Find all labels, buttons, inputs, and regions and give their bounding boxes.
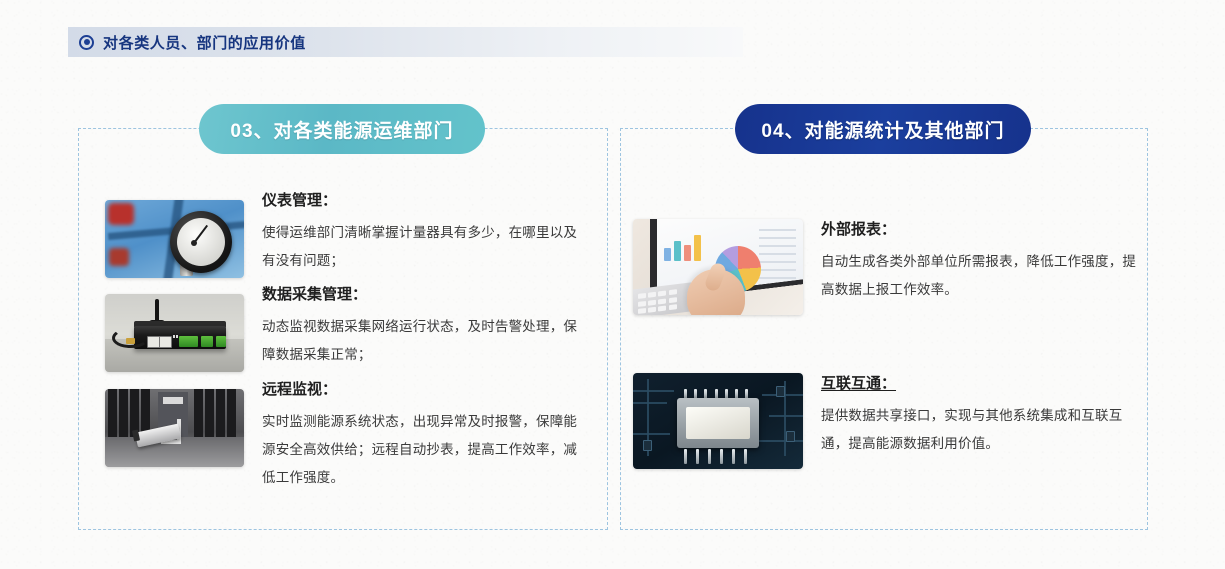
item-desc: 自动生成各类外部单位所需报表，降低工作强度，提高数据上报工作效率。 <box>821 248 1141 304</box>
item-desc: 提供数据共享接口，实现与其他系统集成和互联互通，提高能源数据利用价值。 <box>821 402 1141 458</box>
item-title: 远程监视： <box>262 382 582 399</box>
pressure-gauge-photo <box>105 200 244 278</box>
list-item: 远程监视： 实时监测能源系统状态，出现异常及时报警，保障能源安全高效供给；远程自… <box>105 389 582 492</box>
item-title: 外部报表： <box>821 222 1141 239</box>
panel-04 <box>620 128 1148 530</box>
laptop-charts-photo <box>633 219 803 315</box>
list-item: 互联互通： 提供数据共享接口，实现与其他系统集成和互联互通，提高能源数据利用价值… <box>633 373 1141 469</box>
badge-03: 03、对各类能源运维部门 <box>199 104 485 154</box>
item-desc: 使得运维部门清晰掌握计量器具有多少，在哪里以及有没有问题； <box>262 219 582 275</box>
list-item: 仪表管理： 使得运维部门清晰掌握计量器具有多少，在哪里以及有没有问题； <box>105 200 582 278</box>
target-circle-icon <box>79 35 94 50</box>
item-title: 仪表管理： <box>262 193 582 210</box>
item-desc: 动态监视数据采集网络运行状态，及时告警处理，保障数据采集正常； <box>262 313 582 369</box>
data-acquisition-gateway-photo <box>105 294 244 372</box>
section-header: 对各类人员、部门的应用价值 <box>68 27 743 57</box>
cpu-circuit-board-photo <box>633 373 803 469</box>
surveillance-camera-photo <box>105 389 244 467</box>
badge-04: 04、对能源统计及其他部门 <box>735 104 1031 154</box>
list-item: 外部报表： 自动生成各类外部单位所需报表，降低工作强度，提高数据上报工作效率。 <box>633 219 1141 315</box>
item-title: 数据采集管理： <box>262 287 582 304</box>
list-item: 数据采集管理： 动态监视数据采集网络运行状态，及时告警处理，保障数据采集正常； <box>105 294 582 372</box>
page-title: 对各类人员、部门的应用价值 <box>103 32 306 53</box>
item-title: 互联互通： <box>821 376 1141 393</box>
item-desc: 实时监测能源系统状态，出现异常及时报警，保障能源安全高效供给；远程自动抄表，提高… <box>262 408 582 492</box>
